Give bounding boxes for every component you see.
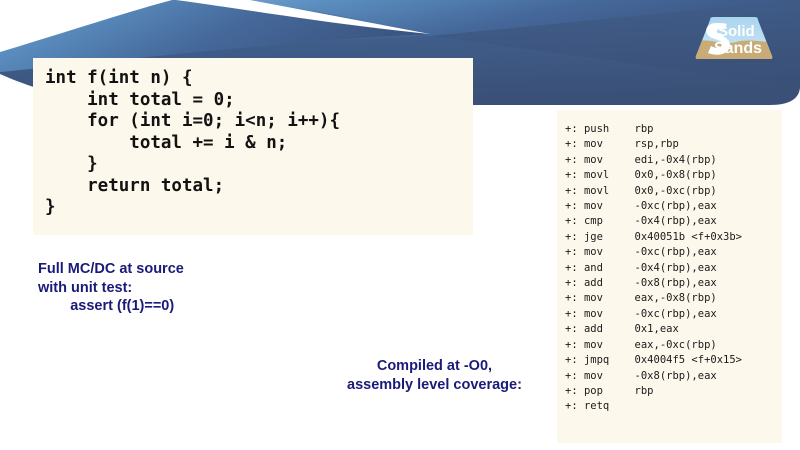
source-code-text: int f(int n) { int total = 0; for (int i… [33, 58, 473, 219]
logo-graphic: Solid Sands [692, 16, 776, 60]
note-compiled-line2: assembly level coverage: [347, 376, 522, 395]
note-compiled-line1: Compiled at -O0, [377, 358, 492, 374]
note-compiled-coverage: Compiled at -O0,assembly level coverage: [347, 357, 522, 394]
source-code-box: int f(int n) { int total = 0; for (int i… [33, 58, 473, 235]
assembly-listing-box: +: push rbp +: mov rsp,rbp +: mov edi,-0… [557, 110, 782, 443]
assembly-listing-text: +: push rbp +: mov rsp,rbp +: mov edi,-0… [557, 110, 782, 415]
note-mcdc-unit-test: Full MC/DC at source with unit test: ass… [38, 260, 184, 316]
solid-sands-logo: Solid Sands [692, 16, 776, 60]
slide-canvas: Solid Sands int f(int n) { int total = 0… [0, 0, 800, 450]
